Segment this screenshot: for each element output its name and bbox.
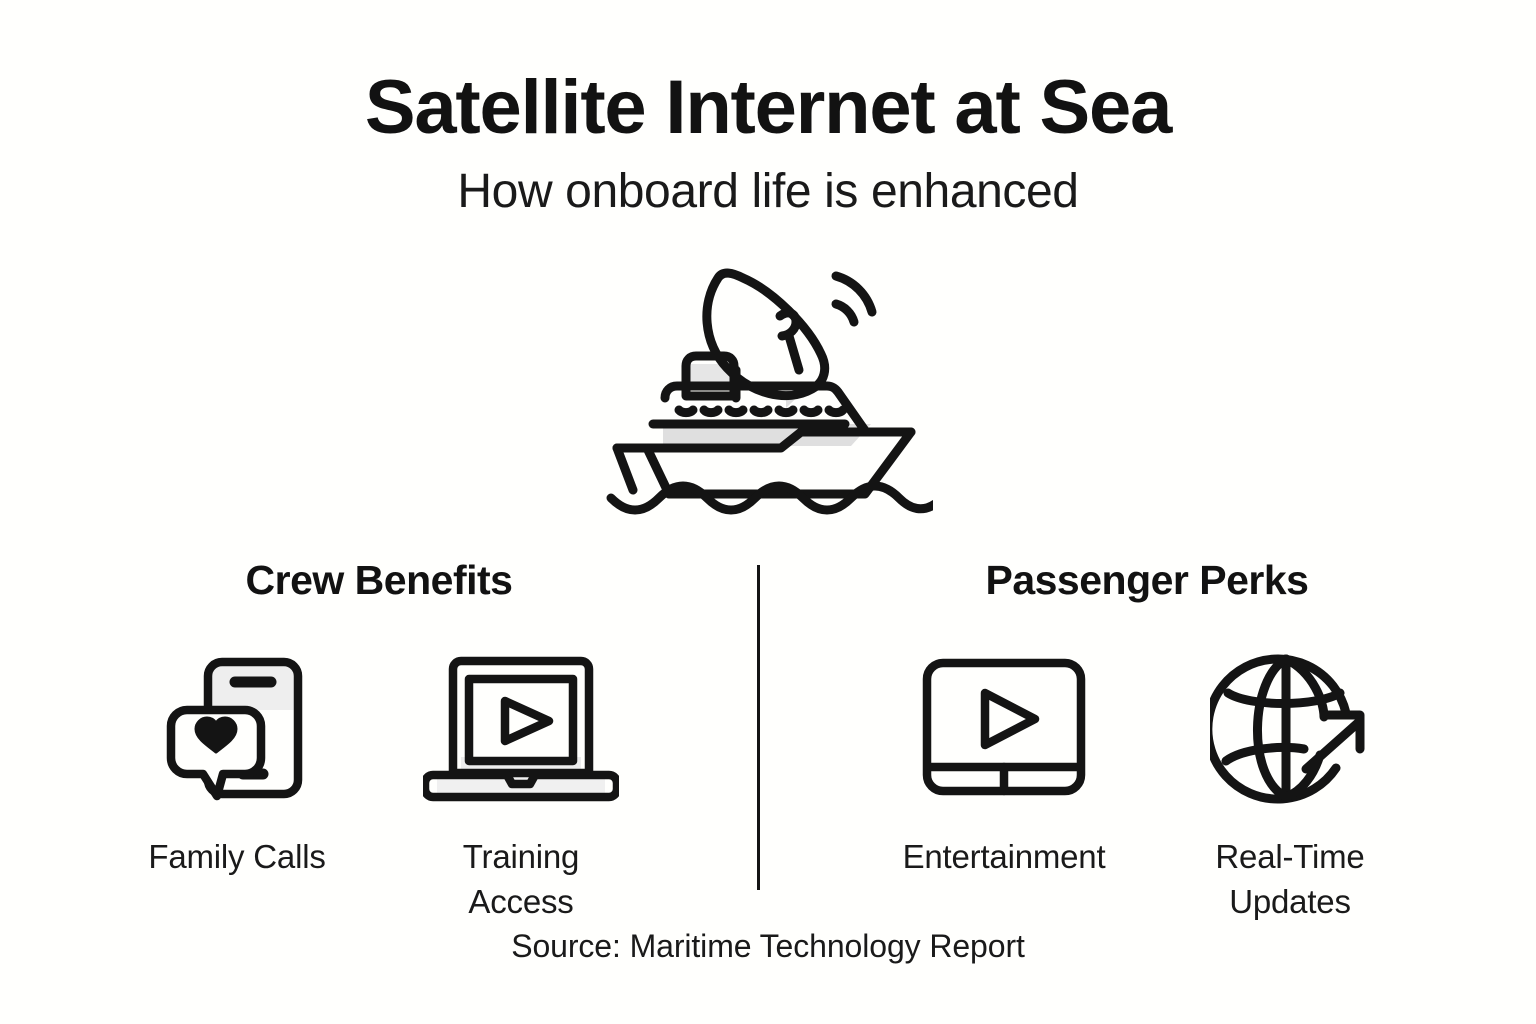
item-label: Real-Time Updates (1190, 835, 1390, 924)
item-art (161, 649, 313, 809)
item-label: Entertainment (903, 835, 1106, 880)
page-subtitle: How onboard life is enhanced (0, 148, 1536, 219)
item-family-calls: Family Calls (137, 649, 337, 880)
item-art (921, 649, 1087, 809)
item-entertainment: Entertainment (904, 649, 1104, 880)
hero-illustration (0, 258, 1536, 526)
item-label: Family Calls (148, 835, 325, 880)
item-real-time-updates: Real-Time Updates (1190, 649, 1390, 924)
item-training-access: Training Access (421, 649, 621, 924)
item-label: Training Access (421, 835, 621, 924)
header: Satellite Internet at Sea How onboard li… (0, 0, 1536, 219)
source-note: Source: Maritime Technology Report (0, 928, 1536, 965)
column-crew-benefits: Crew Benefits (0, 558, 758, 924)
item-art (423, 649, 619, 809)
globe-arrow-icon (1210, 651, 1370, 807)
crew-items: Family Calls (137, 649, 621, 924)
benefits-columns: Crew Benefits (0, 558, 1536, 924)
section-heading-passenger: Passenger Perks (985, 558, 1308, 603)
laptop-play-icon (423, 653, 619, 805)
satellite-ship-icon (603, 258, 933, 526)
column-passenger-perks: Passenger Perks (758, 558, 1536, 924)
infographic-canvas: Satellite Internet at Sea How onboard li… (0, 0, 1536, 1024)
screen-play-icon (921, 655, 1087, 803)
section-heading-crew: Crew Benefits (246, 558, 513, 603)
passenger-items: Entertainment (904, 649, 1390, 924)
phone-heart-message-icon (161, 650, 313, 808)
item-art (1210, 649, 1370, 809)
page-title: Satellite Internet at Sea (0, 0, 1536, 148)
